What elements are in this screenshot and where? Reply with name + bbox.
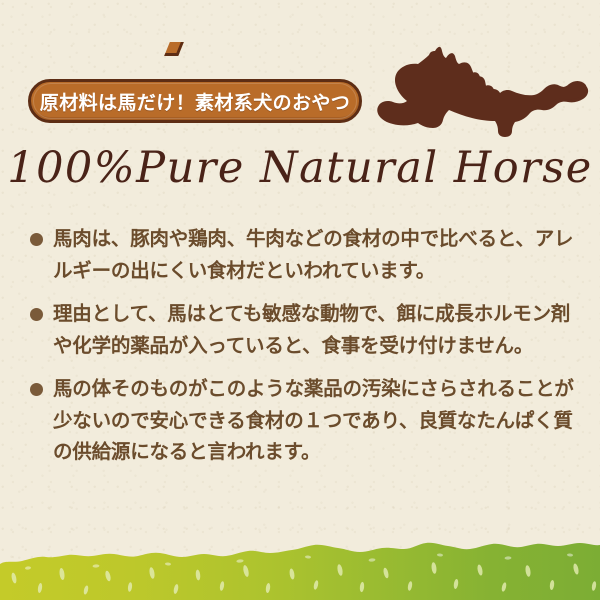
list-item-text: 馬の体そのものがこのような薬品の汚染にさらされることが少ないので安心できる食材の…	[53, 374, 575, 469]
list-item: 馬の体そのものがこのような薬品の汚染にさらされることが少ないので安心できる食材の…	[30, 374, 575, 469]
banner-tail-pointer	[164, 42, 184, 56]
banner-label: 原材料は馬だけ！素材系犬のおやつ	[28, 79, 362, 123]
grass-field-icon	[0, 530, 600, 600]
bullet-list: 馬肉は、豚肉や鶏肉、牛肉などの食材の中で比べると、アレルギーの出にくい食材だとい…	[30, 224, 575, 481]
page-title: 100%Pure Natural Horse	[0, 143, 600, 193]
promo-banner-page: 原材料は馬だけ！素材系犬のおやつ 100%Pure Natural Horse …	[0, 0, 600, 600]
list-item: 馬肉は、豚肉や鶏肉、牛肉などの食材の中で比べると、アレルギーの出にくい食材だとい…	[30, 224, 575, 287]
bullet-dot-icon	[30, 233, 43, 246]
list-item-text: 理由として、馬はとても敏感な動物で、餌に成長ホルモン剤や化学的薬品が入っていると…	[53, 299, 575, 362]
bullet-dot-icon	[30, 308, 43, 321]
list-item: 理由として、馬はとても敏感な動物で、餌に成長ホルモン剤や化学的薬品が入っていると…	[30, 299, 575, 362]
galloping-horse-icon	[372, 42, 594, 142]
tagline-banner: 原材料は馬だけ！素材系犬のおやつ	[28, 79, 362, 123]
list-item-text: 馬肉は、豚肉や鶏肉、牛肉などの食材の中で比べると、アレルギーの出にくい食材だとい…	[53, 224, 575, 287]
bullet-dot-icon	[30, 383, 43, 396]
